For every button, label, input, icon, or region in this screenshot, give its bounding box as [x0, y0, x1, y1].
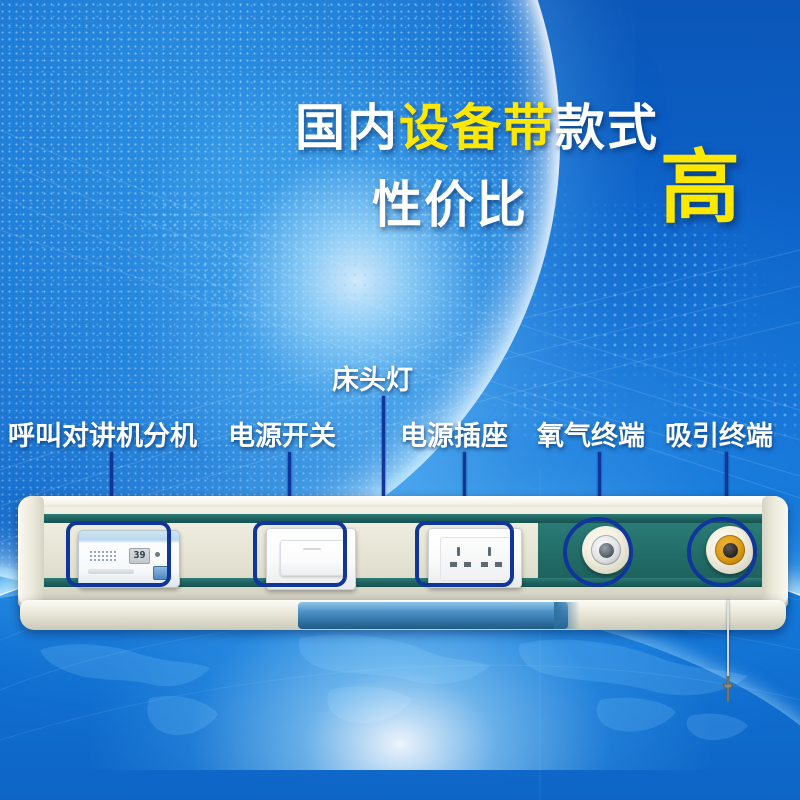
panel-end-cap-right	[762, 496, 788, 608]
product-banner: 国内设备带款式 性价比 高 呼叫对讲机分机 电源开关 床头灯 电源插座 氧气终端…	[0, 0, 800, 800]
socket-face	[440, 537, 512, 581]
panel-rail-blue-insert	[298, 602, 568, 629]
nurse-call-intercom[interactable]: 39	[78, 530, 180, 588]
callout-label-power-socket: 电源插座	[400, 414, 508, 453]
pull-cord-handle-icon[interactable]	[718, 676, 738, 702]
callout-label-bed-lamp: 床头灯	[332, 358, 413, 397]
indicator-led-icon	[155, 552, 160, 557]
rocker-switch-icon[interactable]	[280, 540, 344, 576]
socket-pin-left-a	[450, 562, 457, 567]
panel-stripe-top	[18, 514, 788, 523]
speaker-grille-icon	[89, 550, 117, 563]
intercom-slot	[88, 569, 134, 574]
socket-pin-live-a	[457, 547, 460, 556]
socket-pin-right-a	[464, 562, 471, 567]
device-panel: 39	[18, 496, 788, 636]
socket-pin-right-b	[495, 562, 502, 567]
power-switch[interactable]	[266, 528, 356, 590]
callout-label-suction-terminal: 吸引终端	[665, 414, 773, 453]
panel-end-cap-left	[18, 496, 44, 608]
socket-pin-left-b	[481, 562, 488, 567]
panel-body: 39	[18, 496, 788, 608]
power-socket[interactable]	[428, 528, 522, 588]
callout-group: 呼叫对讲机分机 电源开关 床头灯 电源插座 氧气终端 吸引终端	[0, 0, 800, 800]
highlight-ring-suction	[687, 517, 757, 587]
callout-label-intercom: 呼叫对讲机分机	[8, 414, 197, 453]
pull-cord[interactable]	[727, 600, 729, 678]
socket-pin-live-b	[488, 547, 491, 556]
intercom-call-button[interactable]	[153, 566, 171, 580]
highlight-ring-oxygen	[563, 517, 633, 587]
intercom-display: 39	[129, 548, 150, 564]
callout-label-oxygen-terminal: 氧气终端	[537, 414, 645, 453]
callout-label-power-switch: 电源开关	[228, 414, 336, 453]
